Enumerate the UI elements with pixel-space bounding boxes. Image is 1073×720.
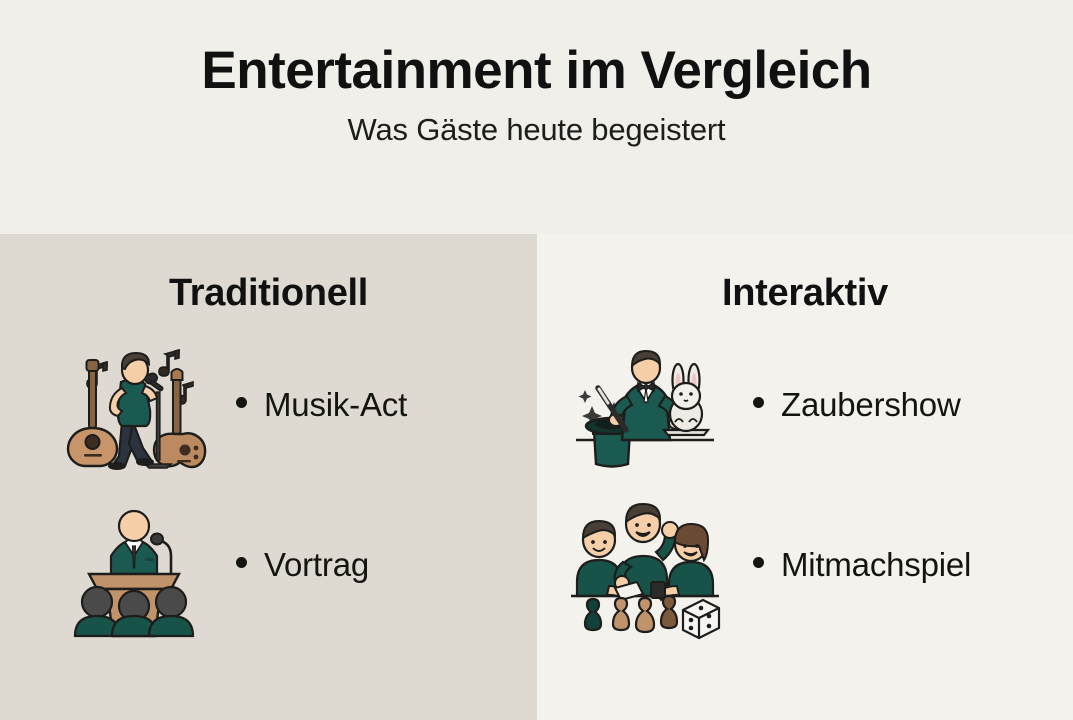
list-item-label: Musik-Act <box>264 386 407 424</box>
list-item-label: Zaubershow <box>781 386 961 424</box>
lecture-podium-icon <box>46 490 222 640</box>
comparison-columns: Traditionell <box>0 234 1073 720</box>
list-item[interactable]: Mitmachspiel <box>537 485 1073 645</box>
list-item-label-wrap: Vortrag <box>236 546 369 584</box>
musician-band-icon <box>46 330 222 480</box>
traditional-item-list: Musik-Act <box>0 325 537 645</box>
list-item[interactable]: Zaubershow <box>537 325 1073 485</box>
interactive-item-list: Zaubershow <box>537 325 1073 645</box>
list-item-label-wrap: Mitmachspiel <box>753 546 971 584</box>
board-game-players-icon <box>557 490 733 640</box>
infographic-root: Entertainment im Vergleich Was Gäste heu… <box>0 0 1073 720</box>
bullet-icon <box>236 557 247 568</box>
magician-tophat-icon <box>557 330 733 480</box>
page-subtitle: Was Gäste heute begeistert <box>348 113 726 147</box>
column-heading-traditional: Traditionell <box>169 272 368 315</box>
column-traditional: Traditionell <box>0 234 537 720</box>
bullet-icon <box>753 557 764 568</box>
list-item[interactable]: Vortrag <box>0 485 537 645</box>
list-item-label: Mitmachspiel <box>781 546 971 584</box>
column-heading-interactive: Interaktiv <box>722 272 888 315</box>
page-title: Entertainment im Vergleich <box>201 43 871 99</box>
column-interactive: Interaktiv <box>537 234 1073 720</box>
list-item[interactable]: Musik-Act <box>0 325 537 485</box>
list-item-label-wrap: Zaubershow <box>753 386 961 424</box>
bullet-icon <box>236 397 247 408</box>
list-item-label: Vortrag <box>264 546 369 584</box>
header-band: Entertainment im Vergleich Was Gäste heu… <box>0 0 1073 234</box>
list-item-label-wrap: Musik-Act <box>236 386 407 424</box>
bullet-icon <box>753 397 764 408</box>
